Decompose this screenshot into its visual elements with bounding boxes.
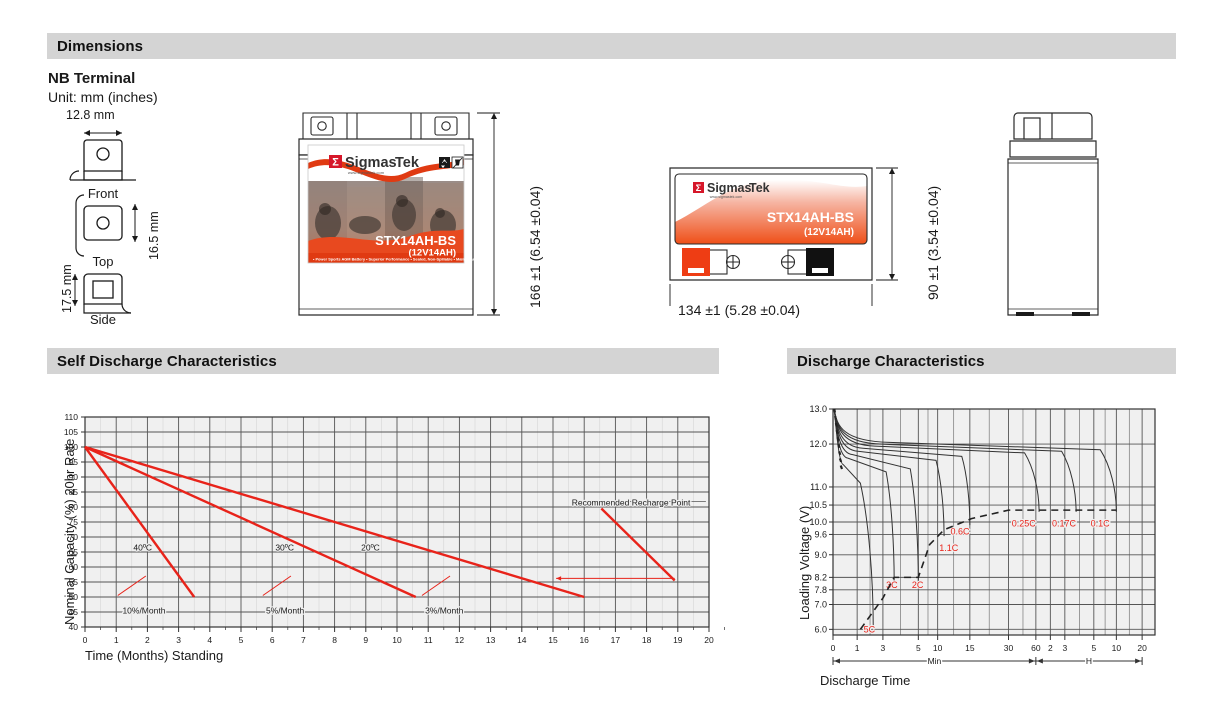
battery-top-height-label: 90 ±1 (3.54 ±0.04) xyxy=(925,186,941,300)
svg-text:7.8: 7.8 xyxy=(814,585,827,595)
curve-label-2C: 2C xyxy=(912,580,924,590)
svg-text:30: 30 xyxy=(1004,643,1014,653)
section-title-discharge: Discharge Characteristics xyxy=(787,353,985,370)
svg-text:3: 3 xyxy=(1062,643,1067,653)
curve-label-5C: 5C xyxy=(864,624,876,634)
svg-text:10: 10 xyxy=(392,635,402,645)
curve-label-1.1C: 1.1C xyxy=(939,543,959,553)
annotation-10-month: 10%/Month xyxy=(122,606,165,616)
terminal-view-top: Top xyxy=(93,254,114,269)
svg-text:60: 60 xyxy=(1031,643,1041,653)
self-discharge-ylabel: Nominal Capacity (%) 20hr Rate xyxy=(62,439,77,625)
svg-text:17: 17 xyxy=(611,635,621,645)
annotation-5-month: 5%/Month xyxy=(266,606,305,616)
svg-text:9: 9 xyxy=(363,635,368,645)
svg-text:3: 3 xyxy=(176,635,181,645)
svg-text:20: 20 xyxy=(1137,643,1147,653)
battery-side-view xyxy=(978,103,1108,325)
svg-text:8: 8 xyxy=(332,635,337,645)
curve-label-0.17C: 0.17C xyxy=(1052,519,1077,529)
svg-text:Σ: Σ xyxy=(332,157,339,169)
curve-label-0.25C: 0.25C xyxy=(1012,519,1037,529)
self-discharge-xlabel: Time (Months) Standing xyxy=(85,648,223,663)
svg-text:11: 11 xyxy=(424,635,433,645)
svg-text:19: 19 xyxy=(673,635,683,645)
terminal-height-label: 16.5 mm xyxy=(147,211,161,260)
svg-text:10.5: 10.5 xyxy=(809,500,827,510)
annotation-20-c: 20ºC xyxy=(361,543,380,553)
svg-text:www.sigmastek.com: www.sigmastek.com xyxy=(710,195,743,199)
svg-text:Σ: Σ xyxy=(696,183,702,194)
svg-text:7.0: 7.0 xyxy=(814,599,827,609)
discharge-ylabel: Loading Voltage (V) xyxy=(797,506,812,620)
svg-text:10: 10 xyxy=(1112,643,1122,653)
svg-text:5: 5 xyxy=(1091,643,1096,653)
terminal-width-label: 12.8 mm xyxy=(66,108,115,122)
svg-text:Tek: Tek xyxy=(749,181,770,195)
svg-text:9.0: 9.0 xyxy=(814,550,827,560)
annotation-40-c: 40ºC xyxy=(133,543,152,553)
battery-top-view: Σ Sigmas Tek www.sigmastek.com STX14AH-B… xyxy=(660,160,920,310)
svg-text:1: 1 xyxy=(114,635,119,645)
svg-text:15: 15 xyxy=(965,643,975,653)
svg-text:Sigmas: Sigmas xyxy=(345,155,397,171)
no-bin-icon xyxy=(452,157,463,168)
battery-front-height-label: 166 ±1 (6.54 ±0.04) xyxy=(527,186,543,308)
battery-voltage-top: (12V14AH) xyxy=(804,227,854,238)
svg-text:6: 6 xyxy=(270,635,275,645)
svg-text:2: 2 xyxy=(145,635,150,645)
svg-text:Min: Min xyxy=(928,656,942,666)
svg-text:4: 4 xyxy=(207,635,212,645)
svg-text:www.sigmastek.com: www.sigmastek.com xyxy=(348,170,385,175)
section-header-self-discharge: Self Discharge Characteristics xyxy=(47,348,719,374)
svg-text:16: 16 xyxy=(579,635,589,645)
svg-text:10.0: 10.0 xyxy=(809,517,827,527)
section-title-dimensions: Dimensions xyxy=(47,38,143,55)
svg-text:13.0: 13.0 xyxy=(809,404,827,414)
terminal-title: NB Terminal xyxy=(48,70,135,87)
recycle-icon xyxy=(439,157,450,168)
svg-text:2: 2 xyxy=(1048,643,1053,653)
svg-text:5: 5 xyxy=(239,635,244,645)
svg-text:12: 12 xyxy=(455,635,465,645)
battery-model-front: STX14AH-BS xyxy=(375,233,456,248)
svg-text:13: 13 xyxy=(486,635,496,645)
svg-text:0: 0 xyxy=(831,643,836,653)
annotation-recommended-recharge-point: Recommended Recharge Point xyxy=(572,498,691,508)
annotation-30-c: 30ºC xyxy=(275,543,294,553)
svg-text:Sigmas: Sigmas xyxy=(707,181,752,195)
terminal-unit: Unit: mm (inches) xyxy=(48,89,158,105)
battery-front-view: Σ Sigmas Tek www.sigmastek.com STX14AH-B… xyxy=(295,103,515,325)
svg-text:10: 10 xyxy=(933,643,943,653)
section-title-self-discharge: Self Discharge Characteristics xyxy=(47,353,277,370)
section-header-discharge: Discharge Characteristics xyxy=(787,348,1176,374)
self-discharge-chart: 4045505560657075808590951001051100123456… xyxy=(47,405,727,675)
battery-top-width-label: 134 ±1 (5.28 ±0.04) xyxy=(678,302,800,318)
svg-text:8.2: 8.2 xyxy=(814,572,827,582)
svg-text:105: 105 xyxy=(64,427,78,437)
svg-text:15: 15 xyxy=(548,635,558,645)
svg-text:20: 20 xyxy=(704,635,714,645)
svg-text:110: 110 xyxy=(64,412,78,422)
svg-text:9.6: 9.6 xyxy=(814,529,827,539)
section-header-dimensions: Dimensions xyxy=(47,33,1176,59)
terminal-view-side: Side xyxy=(90,312,116,327)
battery-model-top: STX14AH-BS xyxy=(767,209,854,225)
svg-text:12.0: 12.0 xyxy=(809,439,827,449)
svg-text:18: 18 xyxy=(642,635,652,645)
svg-text:3: 3 xyxy=(881,643,886,653)
svg-text:1: 1 xyxy=(855,643,860,653)
svg-text:5: 5 xyxy=(916,643,921,653)
annotation-3-month: 3%/Month xyxy=(425,606,464,616)
svg-text:7: 7 xyxy=(301,635,306,645)
curve-label-0.1C: 0.1C xyxy=(1091,519,1111,529)
svg-text:Tek: Tek xyxy=(395,155,420,171)
svg-text:14: 14 xyxy=(517,635,527,645)
terminal-depth-label: 17.5 mm xyxy=(60,264,74,313)
svg-text:0: 0 xyxy=(83,635,88,645)
discharge-xlabel: Discharge Time xyxy=(820,673,910,688)
svg-text:H: H xyxy=(1086,656,1092,666)
curve-label-0.6C: 0.6C xyxy=(951,526,971,536)
svg-text:6.0: 6.0 xyxy=(814,624,827,634)
battery-tagline: • Power Sports AGM Battery • Superior Pe… xyxy=(313,257,490,262)
terminal-view-front: Front xyxy=(88,186,119,201)
discharge-chart: 13.012.011.010.510.09.69.08.27.87.06.001… xyxy=(787,395,1187,675)
svg-text:11.0: 11.0 xyxy=(810,482,827,492)
